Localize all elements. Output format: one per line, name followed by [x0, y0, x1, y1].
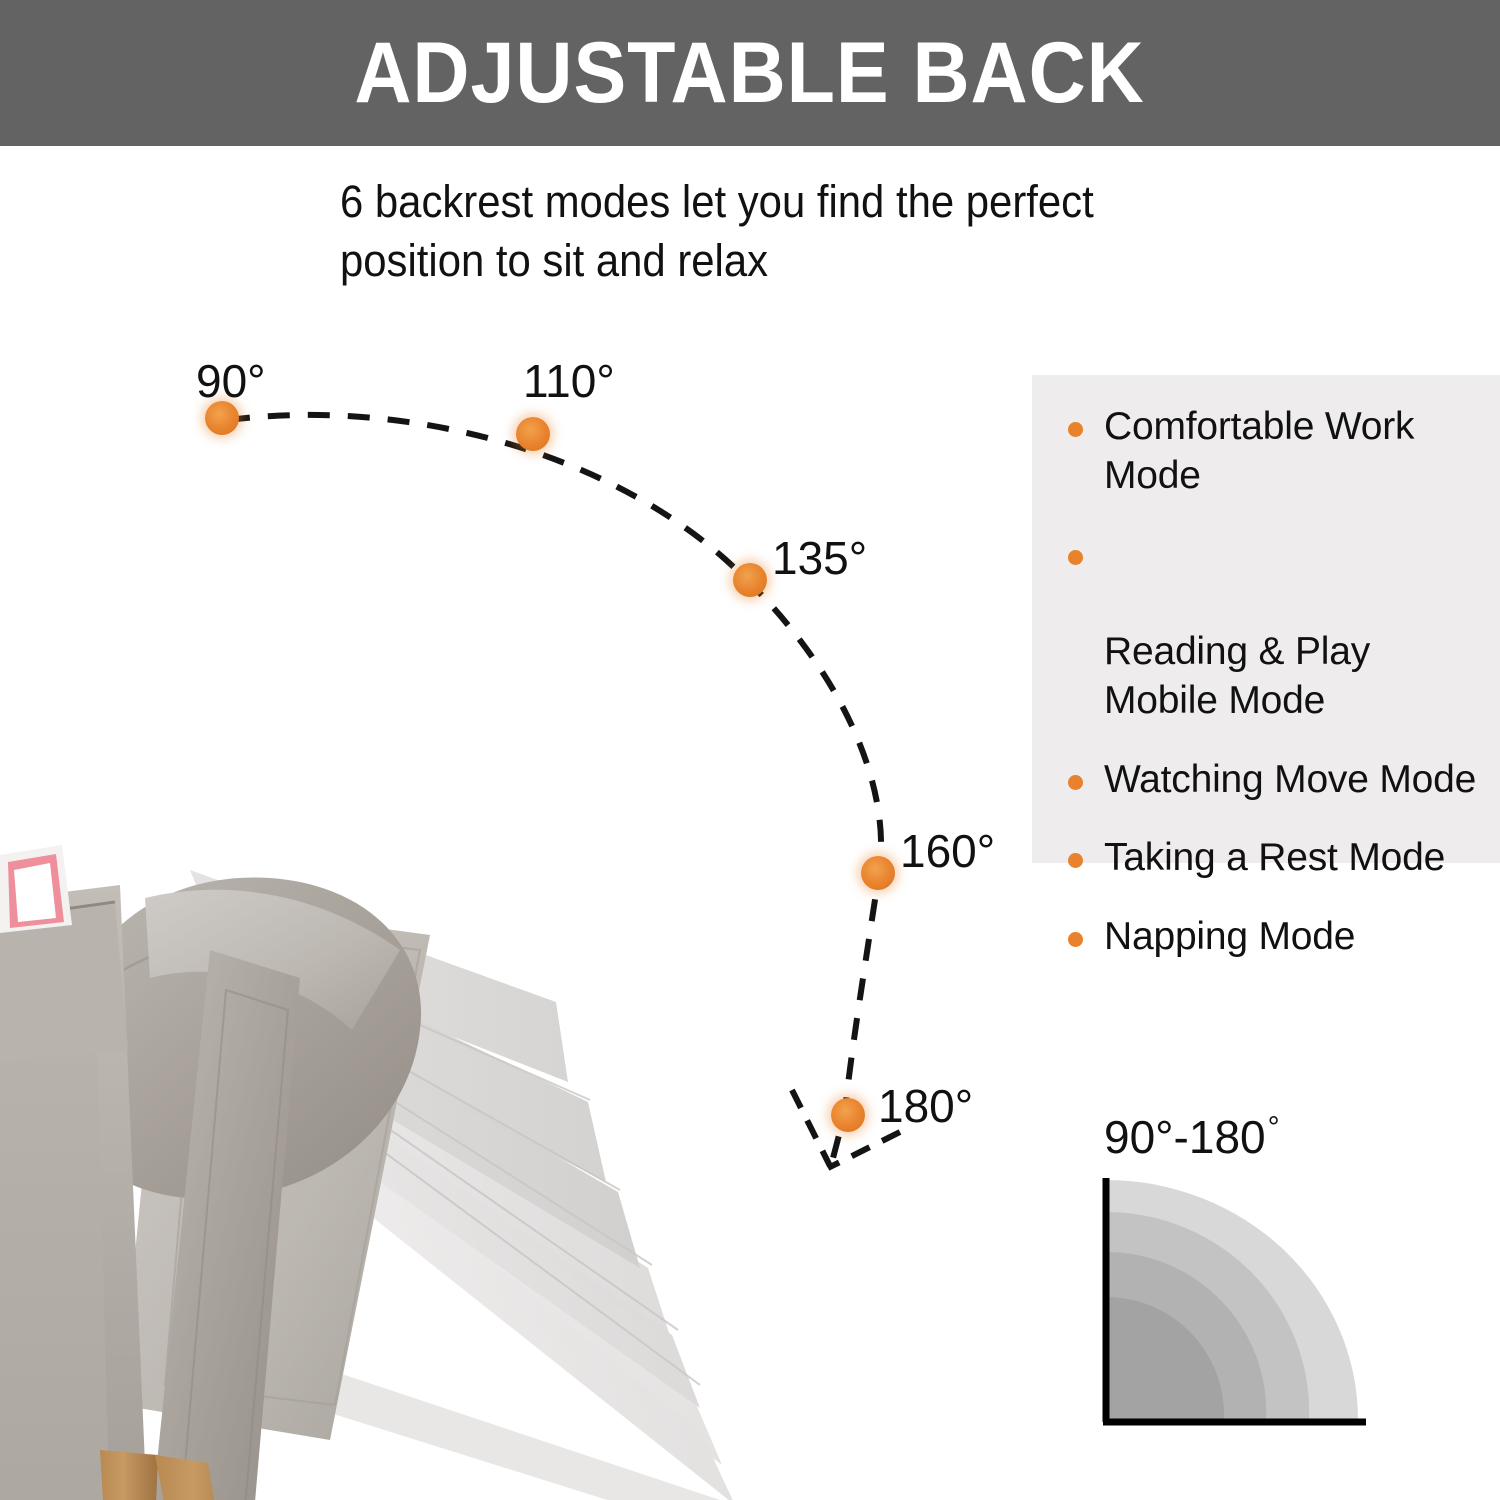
- angle-label-180: 180°: [878, 1079, 973, 1133]
- list-item: Reading & Play Mobile Mode: [1062, 531, 1492, 726]
- wooden-leg-back: [100, 1450, 158, 1500]
- angle-label-110: 110°: [523, 354, 615, 408]
- feature-label: Comfortable Work Mode: [1104, 405, 1414, 497]
- bullet-dot-icon: [1068, 932, 1083, 947]
- bullet-dot-icon: [1068, 775, 1083, 790]
- bullet-dot-icon: [1068, 853, 1083, 868]
- quadrant-svg: [1098, 1172, 1388, 1434]
- angle-range-text: 90°-180: [1104, 1111, 1266, 1163]
- feature-label: Reading & Play Mobile Mode: [1104, 630, 1370, 722]
- angle-label-90: 90°: [196, 354, 266, 408]
- feature-label: Taking a Rest Mode: [1104, 836, 1445, 879]
- feature-label: Watching Move Mode: [1104, 758, 1476, 801]
- angle-label-160: 160°: [900, 824, 995, 878]
- infographic-page: ADJUSTABLE BACK 6 backrest modes let you…: [0, 0, 1500, 1500]
- subtitle-line-2: position to sit and relax: [340, 231, 1177, 290]
- list-item: Comfortable Work Mode: [1062, 403, 1492, 501]
- page-title: ADJUSTABLE BACK: [355, 30, 1145, 116]
- list-item: Watching Move Mode: [1062, 756, 1492, 805]
- feature-list: Comfortable Work Mode Reading & Play Mob…: [1062, 403, 1492, 962]
- subtitle: 6 backrest modes let you find the perfec…: [340, 172, 1177, 291]
- header-bar: ADJUSTABLE BACK: [0, 0, 1500, 146]
- subtitle-line-1: 6 backrest modes let you find the perfec…: [340, 172, 1177, 231]
- bullet-dot-icon: [1068, 550, 1083, 565]
- magazine-in-pocket: [0, 845, 72, 933]
- angle-dot-160: [861, 856, 895, 890]
- feature-panel: Comfortable Work Mode Reading & Play Mob…: [1032, 375, 1500, 863]
- chair-illustration: [0, 430, 780, 1500]
- list-item: Taking a Rest Mode: [1062, 834, 1492, 883]
- feature-label: Napping Mode: [1104, 915, 1355, 958]
- list-item: Napping Mode: [1062, 913, 1492, 962]
- angle-range-label: 90°-180°: [1104, 1110, 1280, 1164]
- arrow-head-left: [792, 1090, 830, 1166]
- angle-range-diagram: 90°-180°: [1090, 1110, 1400, 1440]
- bullet-dot-icon: [1068, 422, 1083, 437]
- degree-symbol-icon: °: [1268, 1111, 1280, 1144]
- chair-product-image: [0, 430, 780, 1500]
- angle-dot-180: [831, 1098, 865, 1132]
- angle-label-135: 135°: [772, 531, 867, 585]
- arrow-head-right: [828, 1132, 900, 1168]
